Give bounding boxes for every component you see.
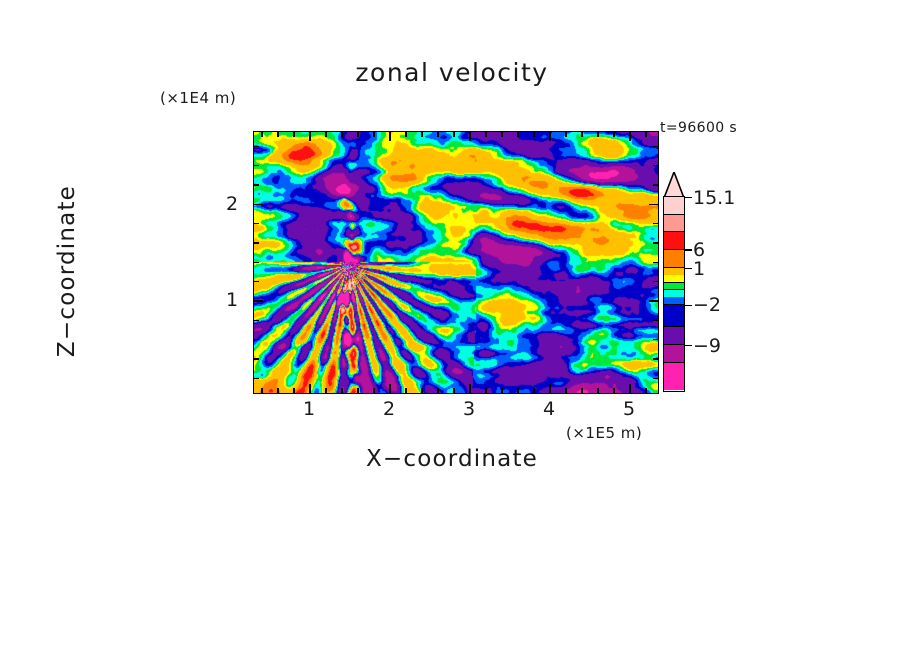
x-tick-major <box>309 384 311 393</box>
x-tick-minor-top <box>485 132 486 137</box>
figure-canvas: zonal velocity (×1E4 m) (×1E5 m) t=96600… <box>0 0 904 654</box>
x-tick-minor-top <box>341 132 342 137</box>
y-tick-minor <box>254 184 259 185</box>
x-tick-minor <box>645 388 646 393</box>
colorbar-tick <box>685 345 692 347</box>
colorbar-bands <box>663 196 685 392</box>
colorbar: 15.161−2−9 <box>663 172 685 392</box>
y-tick-minor <box>254 378 259 379</box>
y-tick-major <box>254 204 263 206</box>
x-tick-minor <box>501 388 502 393</box>
x-tick-minor <box>453 388 454 393</box>
x-tick-major <box>469 384 471 393</box>
x-tick-minor-top <box>645 132 646 137</box>
x-tick-minor-top <box>293 132 294 137</box>
y-tick-minor <box>254 242 259 243</box>
y-tick-label: 1 <box>226 289 238 311</box>
contour-field <box>254 132 658 393</box>
x-tick-minor <box>405 388 406 393</box>
y-tick-minor-right <box>653 146 658 147</box>
y-tick-minor <box>254 146 259 147</box>
colorbar-band <box>664 363 684 391</box>
x-tick-major-top <box>469 132 471 141</box>
page-title: zonal velocity <box>0 58 904 87</box>
y-tick-minor-right <box>653 165 658 166</box>
colorbar-tick-label: 15.1 <box>693 187 735 209</box>
x-tick-label: 1 <box>303 398 315 420</box>
x-tick-minor-top <box>613 132 614 137</box>
y-tick-label: 2 <box>226 193 238 215</box>
colorbar-band <box>664 215 684 233</box>
x-tick-minor-top <box>597 132 598 137</box>
colorbar-tick-label: −9 <box>693 335 721 357</box>
x-tick-minor-top <box>357 132 358 137</box>
y-axis-unit-label: (×1E4 m) <box>160 89 236 107</box>
x-tick-major-top <box>549 132 551 141</box>
x-tick-minor-top <box>533 132 534 137</box>
x-tick-minor <box>533 388 534 393</box>
y-tick-minor <box>254 223 259 224</box>
colorbar-band <box>664 305 684 327</box>
x-tick-major-top <box>389 132 391 141</box>
x-tick-minor <box>581 388 582 393</box>
x-tick-minor-top <box>421 132 422 137</box>
x-tick-label: 4 <box>543 398 555 420</box>
x-tick-major <box>549 384 551 393</box>
colorbar-tick-label: 1 <box>693 258 705 280</box>
x-tick-minor-top <box>581 132 582 137</box>
colorbar-band <box>664 232 684 250</box>
y-tick-minor <box>254 339 259 340</box>
plot-area <box>253 131 659 394</box>
x-tick-minor-top <box>565 132 566 137</box>
x-tick-minor <box>277 388 278 393</box>
x-axis-unit-label: (×1E5 m) <box>566 424 642 442</box>
x-tick-minor <box>565 388 566 393</box>
x-tick-major-top <box>309 132 311 141</box>
x-tick-minor <box>357 388 358 393</box>
colorbar-band <box>664 327 684 346</box>
y-tick-minor <box>254 358 259 359</box>
x-tick-major-top <box>629 132 631 141</box>
y-tick-minor-right <box>653 281 658 282</box>
x-tick-minor <box>517 388 518 393</box>
x-tick-minor <box>373 388 374 393</box>
x-tick-minor-top <box>501 132 502 137</box>
y-tick-minor-right <box>653 378 658 379</box>
y-tick-minor-right <box>653 339 658 340</box>
x-tick-minor <box>325 388 326 393</box>
y-axis-title: Z−coordinate <box>54 151 80 391</box>
x-tick-label: 2 <box>383 398 395 420</box>
x-tick-minor-top <box>261 132 262 137</box>
x-tick-major <box>389 384 391 393</box>
y-tick-minor-right <box>653 262 658 263</box>
colorbar-tick <box>685 197 692 199</box>
x-tick-minor <box>421 388 422 393</box>
colorbar-band <box>664 197 684 215</box>
y-tick-minor-right <box>653 223 658 224</box>
colorbar-tick <box>685 305 692 307</box>
colorbar-band <box>664 345 684 363</box>
x-tick-minor <box>437 388 438 393</box>
colorbar-tick-label: −2 <box>693 294 721 316</box>
x-tick-minor <box>341 388 342 393</box>
y-tick-minor <box>254 281 259 282</box>
colorbar-tick <box>685 268 692 270</box>
y-tick-major-right <box>649 204 658 206</box>
y-tick-minor-right <box>653 358 658 359</box>
x-tick-minor-top <box>453 132 454 137</box>
colorbar-band <box>664 250 684 269</box>
x-tick-minor-top <box>325 132 326 137</box>
timestamp-annotation: t=96600 s <box>660 120 737 136</box>
x-tick-minor-top <box>437 132 438 137</box>
y-tick-minor-right <box>653 320 658 321</box>
colorbar-tick <box>685 249 692 251</box>
x-tick-label: 3 <box>463 398 475 420</box>
x-tick-minor <box>597 388 598 393</box>
x-tick-minor-top <box>517 132 518 137</box>
y-tick-major-right <box>649 300 658 302</box>
x-tick-minor-top <box>373 132 374 137</box>
colorbar-arrow-icon <box>663 172 685 198</box>
x-tick-label: 5 <box>623 398 635 420</box>
y-tick-minor <box>254 165 259 166</box>
x-axis-title: X−coordinate <box>0 446 904 472</box>
x-tick-minor <box>261 388 262 393</box>
x-tick-minor <box>613 388 614 393</box>
x-tick-minor <box>485 388 486 393</box>
x-tick-minor <box>293 388 294 393</box>
y-tick-minor <box>254 262 259 263</box>
x-tick-minor-top <box>277 132 278 137</box>
x-tick-major <box>629 384 631 393</box>
y-tick-minor-right <box>653 242 658 243</box>
y-tick-minor <box>254 320 259 321</box>
y-tick-minor-right <box>653 184 658 185</box>
x-tick-minor-top <box>405 132 406 137</box>
y-tick-major <box>254 300 263 302</box>
